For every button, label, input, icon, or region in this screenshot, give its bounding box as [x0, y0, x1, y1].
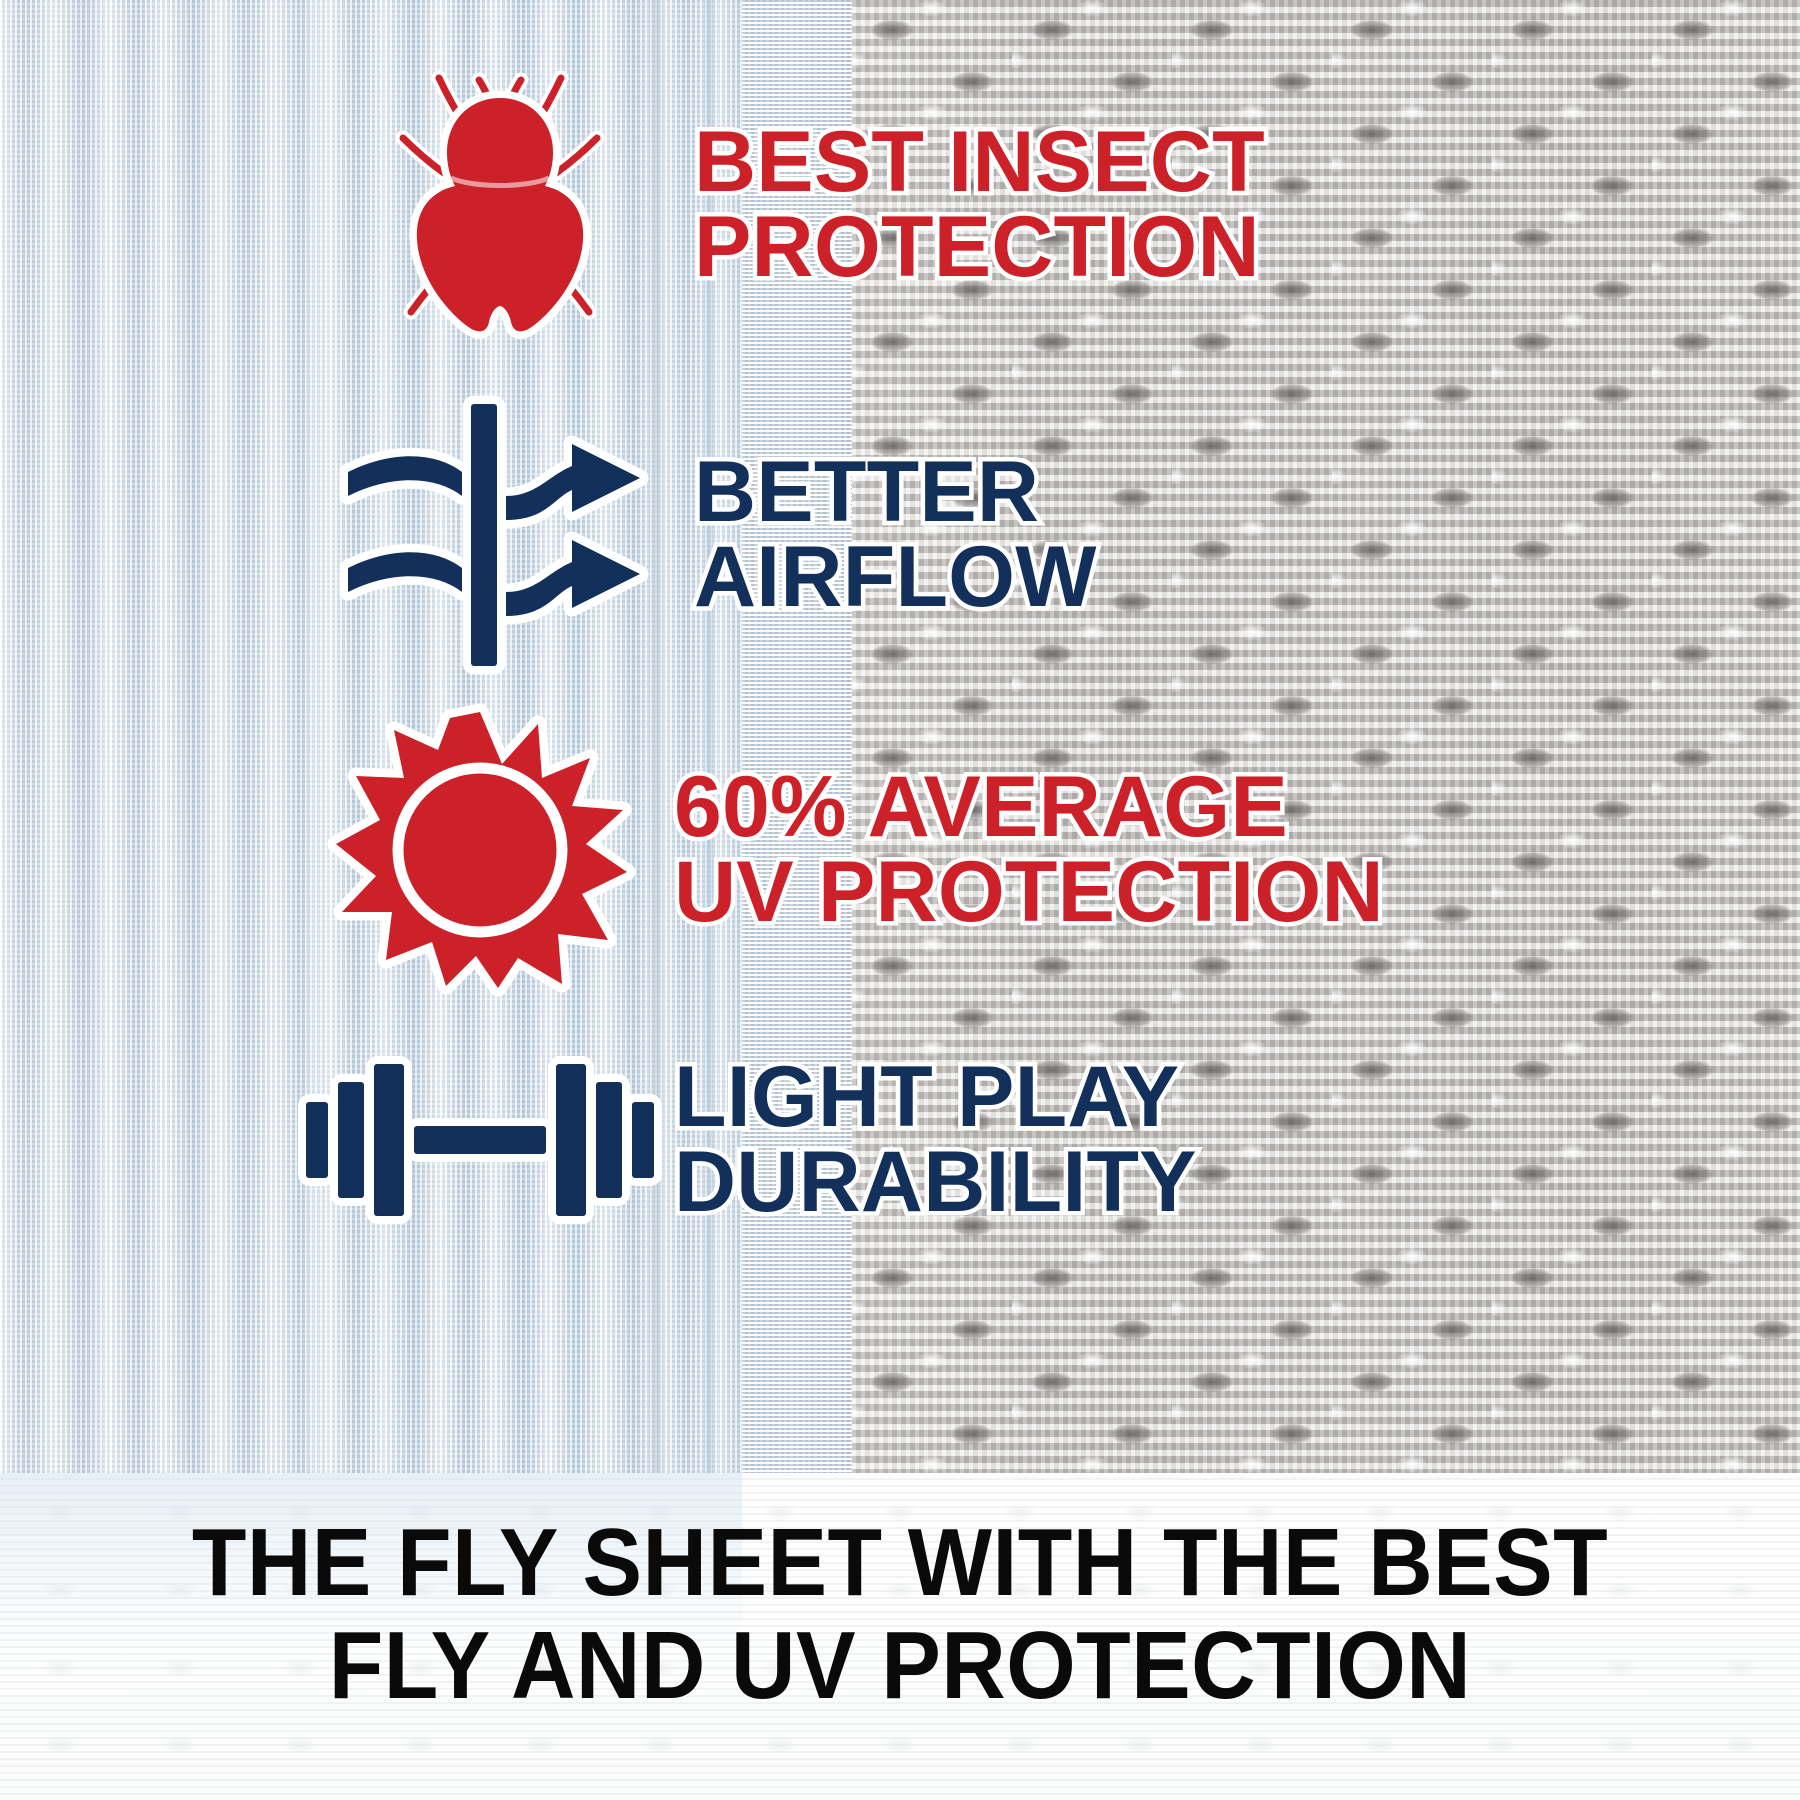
uv-protection-text-cell: 60% AVERAGE UV PROTECTION — [674, 765, 1384, 935]
dumbbell-icon — [300, 1040, 660, 1240]
sun-icon-cell — [300, 710, 660, 990]
uv-protection-label: 60% AVERAGE UV PROTECTION — [674, 765, 1384, 935]
durability-label: LIGHT PLAY DURABILITY — [674, 1055, 1197, 1225]
sun-icon — [325, 710, 635, 990]
durability-text-cell: LIGHT PLAY DURABILITY — [674, 1055, 1197, 1225]
feature-row-insect-protection: BEST INSECT PROTECTION — [320, 60, 1265, 350]
feature-row-airflow: BETTER AIRFLOW — [320, 400, 1097, 670]
feature-row-uv-protection: 60% AVERAGE UV PROTECTION — [300, 710, 1384, 990]
airflow-text-cell: BETTER AIRFLOW — [694, 450, 1097, 620]
dumbbell-icon-cell — [300, 1040, 660, 1240]
feature-row-durability: LIGHT PLAY DURABILITY — [300, 1040, 1197, 1240]
airflow-icon — [340, 400, 660, 670]
airflow-label: BETTER AIRFLOW — [694, 450, 1097, 620]
airflow-icon-cell — [320, 400, 680, 670]
fly-icon-cell — [320, 60, 680, 350]
infographic-banner: BEST INSECT PROTECTION — [0, 0, 1800, 1800]
tagline: THE FLY SHEET WITH THE BEST FLY AND UV P… — [63, 1512, 1737, 1717]
insect-protection-label: BEST INSECT PROTECTION — [694, 120, 1265, 290]
fly-icon — [385, 60, 615, 350]
insect-protection-text-cell: BEST INSECT PROTECTION — [694, 120, 1265, 290]
